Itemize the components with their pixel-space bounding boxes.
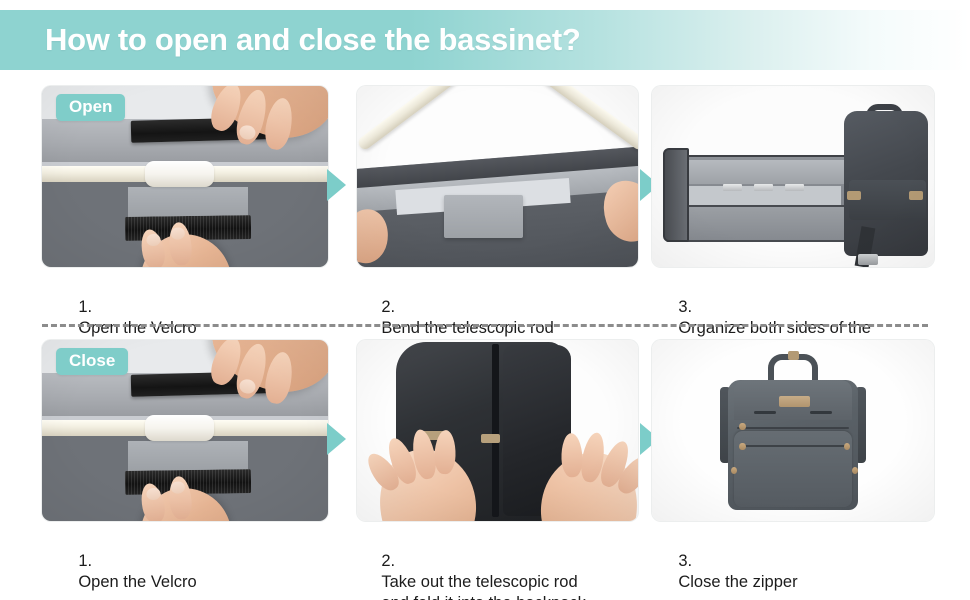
- infographic-page: How to open and close the bassinet?: [0, 0, 970, 600]
- page-title: How to open and close the bassinet?: [45, 10, 581, 70]
- step-text-1: Open the Velcro: [78, 318, 196, 339]
- step-text-6: Close the zipper: [678, 572, 797, 593]
- step-image-3: [652, 86, 934, 267]
- step-number-1: 1.: [78, 298, 96, 316]
- step-caption-4: 1. Open the Velcro: [60, 530, 197, 600]
- step-image-5: [357, 340, 638, 521]
- triangle-right-icon: [327, 423, 346, 455]
- step-text-4: Open the Velcro: [78, 572, 196, 593]
- step-image-4: Close: [42, 340, 328, 521]
- step-number-3: 3.: [678, 298, 696, 316]
- step-image-6: [652, 340, 934, 521]
- step-caption-6: 3. Close the zipper: [660, 530, 798, 600]
- step-number-5: 2.: [381, 552, 399, 570]
- step-number-6: 3.: [678, 552, 696, 570]
- step-caption-5: 2. Take out the telescopic rodand fold i…: [363, 530, 586, 600]
- photo-closed-backpack: [652, 340, 934, 521]
- photo-fold-into-backpack: [357, 340, 638, 521]
- badge-open: Open: [56, 94, 125, 121]
- step-number-4: 1.: [78, 552, 96, 570]
- step-image-2: [357, 86, 638, 267]
- step-image-1: Open: [42, 86, 328, 267]
- triangle-right-icon: [327, 169, 346, 201]
- photo-crib-stand-up: [652, 86, 934, 267]
- photo-bend-rod: [357, 86, 638, 267]
- badge-close: Close: [56, 348, 128, 375]
- step-text-5: Take out the telescopic rodand fold it i…: [381, 572, 586, 600]
- step-number-2: 2.: [381, 298, 399, 316]
- section-divider: [42, 324, 928, 327]
